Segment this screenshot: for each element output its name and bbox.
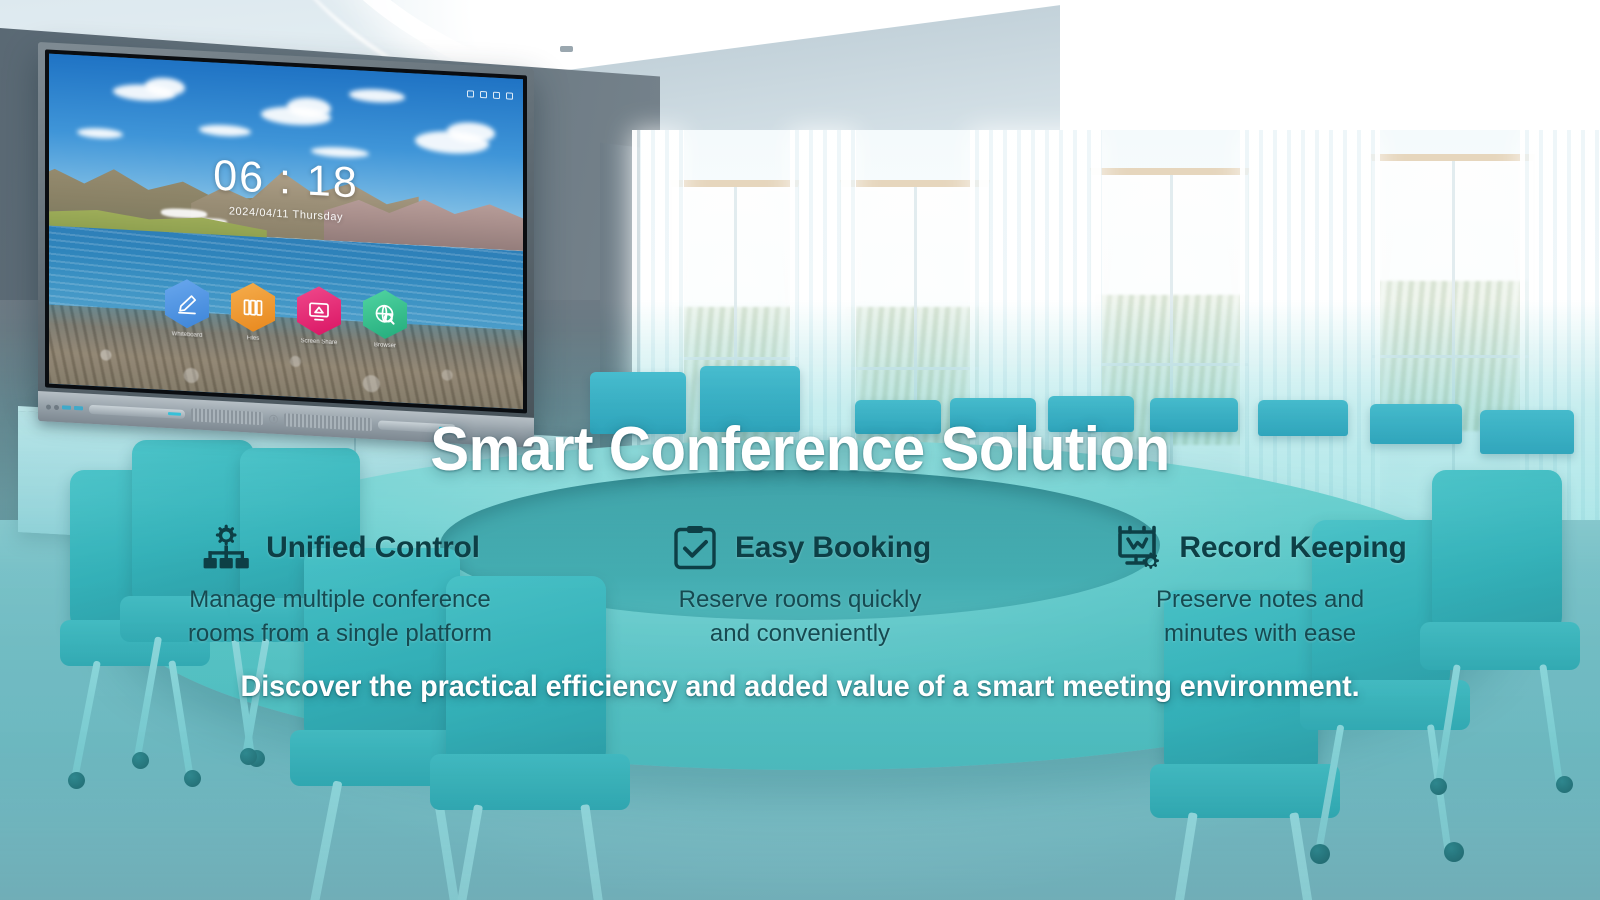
whiteboard-gear-icon-svg bbox=[1113, 522, 1165, 574]
feature-unified-control: Unified Control Manage multiple conferen… bbox=[140, 522, 540, 651]
feature-header: Unified Control bbox=[140, 522, 540, 574]
feature-list: Unified Control Manage multiple conferen… bbox=[140, 522, 1460, 651]
feature-easy-booking: Easy Booking Reserve rooms quickly and c… bbox=[600, 522, 1000, 651]
feature-description: Reserve rooms quickly and conveniently bbox=[600, 583, 1000, 651]
feature-desc-line: minutes with ease bbox=[1060, 617, 1460, 651]
feature-record-keeping: Record Keeping Preserve notes and minute… bbox=[1060, 522, 1460, 651]
feature-description: Manage multiple conference rooms from a … bbox=[140, 583, 540, 651]
feature-desc-line: rooms from a single platform bbox=[140, 617, 540, 651]
feature-header: Easy Booking bbox=[600, 522, 1000, 574]
whiteboard-gear-icon bbox=[1113, 522, 1165, 574]
feature-title: Easy Booking bbox=[735, 531, 931, 565]
text-overlay: Smart Conference Solution bbox=[0, 0, 1600, 900]
feature-header: Record Keeping bbox=[1060, 522, 1460, 574]
feature-desc-line: and conveniently bbox=[600, 617, 1000, 651]
feature-description: Preserve notes and minutes with ease bbox=[1060, 583, 1460, 651]
hero-banner: 06 : 18 2024/04/11 Thursday Whiteboard bbox=[0, 0, 1600, 900]
hero-tagline: Discover the practical efficiency and ad… bbox=[32, 670, 1568, 704]
clipboard-check-icon bbox=[669, 522, 721, 574]
feature-title: Unified Control bbox=[266, 531, 480, 565]
network-gear-icon bbox=[200, 522, 252, 574]
feature-desc-line: Preserve notes and bbox=[1060, 583, 1460, 617]
feature-desc-line: Manage multiple conference bbox=[140, 583, 540, 617]
network-gear-icon-svg bbox=[200, 522, 252, 574]
feature-title: Record Keeping bbox=[1179, 531, 1406, 565]
page-title: Smart Conference Solution bbox=[48, 414, 1552, 485]
feature-desc-line: Reserve rooms quickly bbox=[600, 583, 1000, 617]
clipboard-check-icon-svg bbox=[669, 522, 721, 574]
